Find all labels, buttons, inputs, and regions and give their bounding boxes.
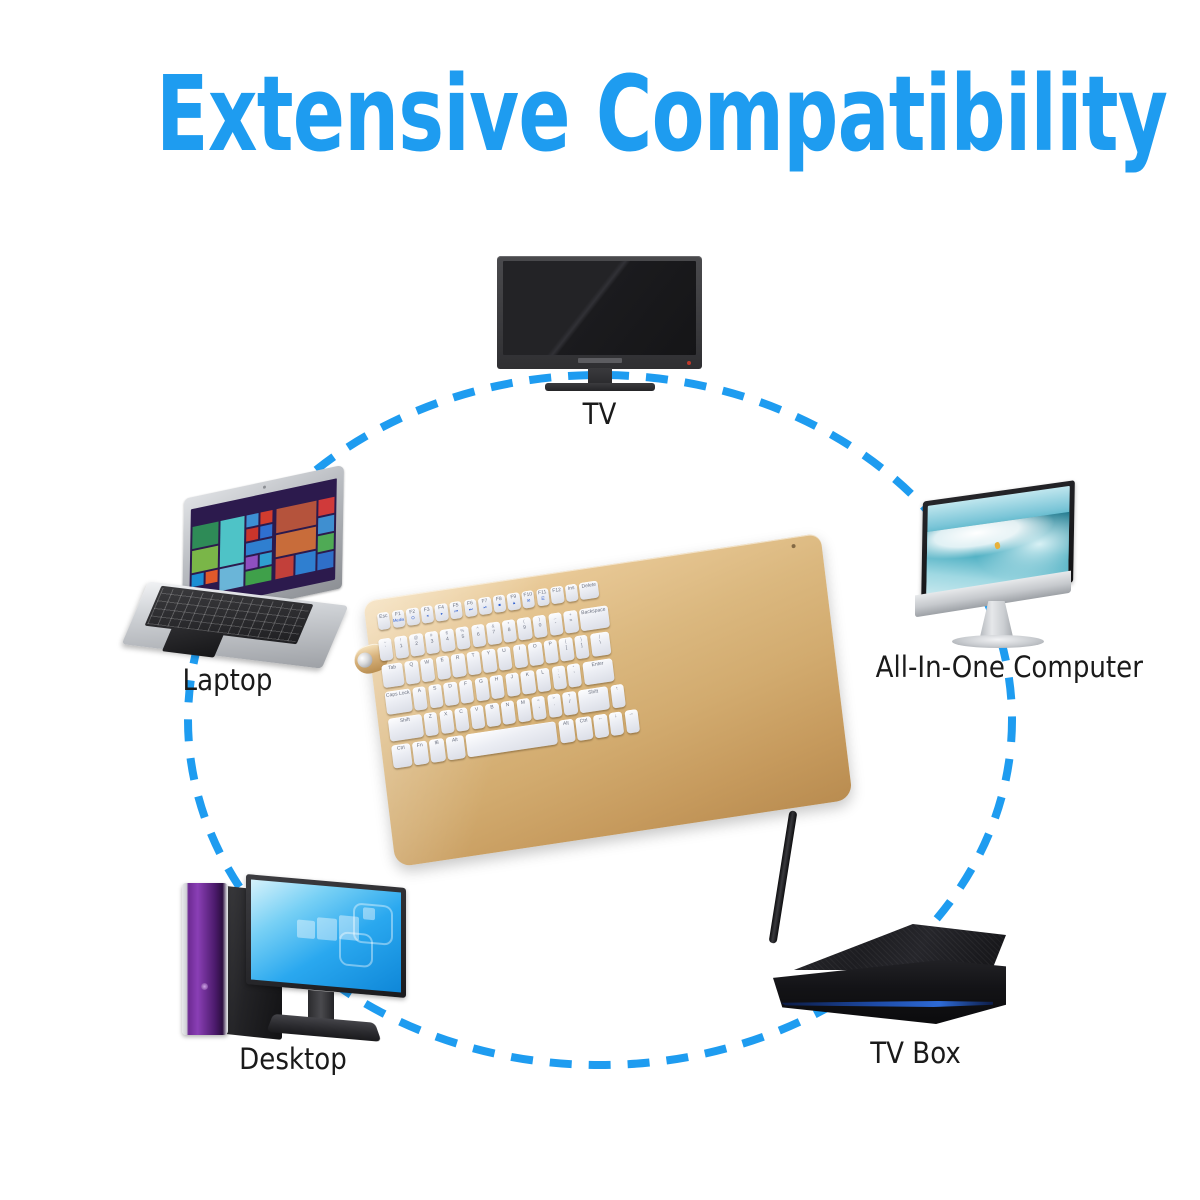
keyboard-key-0[interactable]: )0: [532, 615, 548, 639]
keyboard-key-[interactable]: _-: [548, 612, 564, 636]
device-label-all-in-one-computer: All-In-One Computer: [876, 651, 1121, 683]
keyboard-key-x[interactable]: X: [439, 709, 455, 734]
keyboard-key-j[interactable]: J: [505, 672, 521, 697]
keyboard-key-[interactable]: ↓: [609, 711, 625, 736]
keyboard-key-e[interactable]: E: [435, 655, 451, 680]
keyboard-key-alt[interactable]: Alt: [558, 719, 576, 744]
keyboard-key-i[interactable]: I: [512, 644, 528, 669]
tv-bezel-icon: [497, 256, 702, 369]
keyboard-key-4[interactable]: $4: [440, 628, 456, 652]
keyboard-key-y[interactable]: Y: [481, 648, 497, 673]
keyboard-key-f2[interactable]: F2⭘: [406, 607, 420, 626]
keyboard-key-alt[interactable]: Alt: [446, 735, 466, 760]
keyboard-key-s[interactable]: S: [428, 684, 444, 709]
keyboard-key-5[interactable]: %5: [455, 626, 471, 650]
keyboard-key-n[interactable]: N: [500, 700, 516, 725]
keyboard-key-f7[interactable]: F7⏯: [478, 596, 492, 615]
keyboard-key-[interactable]: {[: [559, 637, 575, 662]
keyboard-key-f10[interactable]: F10✉: [521, 590, 535, 609]
keyboard-key-enter[interactable]: Enter: [582, 658, 615, 685]
keyboard-key-f12[interactable]: F12: [550, 586, 564, 605]
all-in-one-stand-neck-icon: [980, 601, 1014, 639]
all-in-one-stand-base-icon: [952, 635, 1044, 648]
keyboard-key-delete[interactable]: Delete: [579, 580, 600, 600]
desktop-monitor-base-icon: [266, 1014, 381, 1042]
keyboard-key-f9[interactable]: F9▲: [507, 592, 521, 611]
keyboard-key-9[interactable]: (9: [517, 617, 533, 641]
desktop-monitor-screen: [251, 879, 401, 992]
keyboard-key-[interactable]: +=: [563, 610, 579, 634]
device-node-laptop[interactable]: Laptop: [95, 480, 360, 700]
keyboard-key-l[interactable]: L: [536, 668, 552, 693]
keyboard-key-[interactable]: "': [567, 663, 583, 688]
keyboard-key-caps-lock[interactable]: Caps Lock: [384, 688, 412, 715]
keyboard-key-f3[interactable]: F3◂: [420, 605, 434, 624]
keyboard-key-f4[interactable]: F4▸: [435, 603, 449, 622]
keyboard-key-d[interactable]: D: [443, 681, 459, 706]
keyboard-key-[interactable]: ⊞: [429, 738, 447, 763]
keyboard-key-q[interactable]: Q: [404, 660, 420, 685]
keyboard-key-g[interactable]: G: [474, 677, 490, 702]
keyboard-key-shift[interactable]: Shift: [578, 686, 611, 713]
device-node-desktop[interactable]: Desktop: [160, 875, 410, 1070]
device-node-tv[interactable]: TV: [497, 256, 702, 436]
tv-logo-bar-icon: [578, 358, 622, 363]
keyboard-key-o[interactable]: O: [528, 641, 544, 666]
device-label-desktop: Desktop: [181, 1043, 406, 1075]
desktop-power-button-icon: [201, 983, 208, 990]
keyboard-key-f6[interactable]: F6⏭: [463, 599, 477, 618]
keyboard-key-w[interactable]: W: [420, 658, 436, 683]
keyboard-key-u[interactable]: U: [497, 646, 513, 671]
keyboard-key-fn[interactable]: Fn: [412, 740, 430, 765]
device-label-laptop: Laptop: [108, 664, 347, 696]
device-label-tv-box: TV Box: [796, 1037, 1035, 1069]
tv-power-led-icon: [687, 361, 691, 365]
keyboard-key-[interactable]: ~`: [378, 638, 394, 662]
keyboard-key-7[interactable]: &7: [486, 621, 502, 645]
keyboard-key-[interactable]: >.: [547, 693, 563, 718]
keyboard-key-tab[interactable]: Tab: [381, 662, 405, 688]
compatibility-infographic: Extensive Compatibility TV: [0, 0, 1200, 1200]
keyboard-key-k[interactable]: K: [520, 670, 536, 695]
device-label-tv: TV: [507, 398, 692, 430]
keyboard-key-1[interactable]: !1: [393, 635, 409, 659]
keyboard-key-[interactable]: }]: [574, 635, 590, 660]
keyboard-key-z[interactable]: Z: [423, 712, 439, 737]
keyboard-key-[interactable]: ?/: [562, 691, 578, 716]
laptop-touchpad-icon: [162, 627, 224, 657]
desktop-tower-icon: [182, 883, 228, 1035]
keyboard-key-p[interactable]: P: [543, 639, 559, 664]
keyboard-key-[interactable]: |\: [589, 631, 611, 657]
keyboard-key-a[interactable]: A: [412, 686, 428, 711]
keyboard-key-esc[interactable]: Esc: [377, 612, 391, 631]
keyboard-key-f[interactable]: F: [459, 679, 475, 704]
keyboard-key-backspace[interactable]: Backspace: [579, 605, 610, 631]
keyboard-key-[interactable]: ←: [593, 714, 609, 739]
keyboard-key-v[interactable]: V: [470, 705, 486, 730]
keyboard-key-[interactable]: ↑: [610, 684, 626, 709]
laptop-webcam-icon: [263, 485, 266, 489]
keyboard-key-shift[interactable]: Shift: [388, 714, 424, 742]
keyboard-key-ctrl[interactable]: Ctrl: [391, 743, 412, 769]
keyboard-key-m[interactable]: M: [516, 698, 532, 723]
keyboard-key-r[interactable]: R: [451, 653, 467, 678]
page-title: Extensive Compatibility: [156, 62, 1044, 166]
keyboard-key-ins[interactable]: Ins: [565, 584, 579, 603]
device-node-all-in-one-computer[interactable]: All-In-One Computer: [890, 483, 1105, 693]
tv-stand-base-icon: [545, 383, 655, 391]
keyboard-key-c[interactable]: C: [454, 707, 470, 732]
wireless-keyboard-product[interactable]: EscF1MediaF2⭘F3◂F4▸F5⏮F6⏭F7⏯F8■F9▲F10✉F1…: [360, 558, 860, 878]
keyboard-key-t[interactable]: T: [466, 651, 482, 676]
keyboard-key-[interactable]: <,: [531, 696, 547, 721]
keyboard-key-ctrl[interactable]: Ctrl: [575, 716, 593, 741]
keyboard-key-b[interactable]: B: [485, 702, 501, 727]
keyboard-key-f11[interactable]: F11☰: [536, 588, 550, 607]
keyboard-key-8[interactable]: *8: [501, 619, 517, 643]
keyboard-key-f1[interactable]: F1Media: [391, 609, 405, 628]
keyboard-key-[interactable]: →: [624, 709, 640, 734]
keyboard-key-6[interactable]: ^6: [471, 624, 487, 648]
keyboard-key-f8[interactable]: F8■: [492, 594, 506, 613]
keyboard-key-3[interactable]: #3: [424, 631, 440, 655]
keyboard-key-2[interactable]: @2: [409, 633, 425, 657]
tv-screen: [503, 261, 696, 355]
keyboard-key-h[interactable]: H: [489, 675, 505, 700]
keyboard-key-f5[interactable]: F5⏮: [449, 601, 463, 620]
keyboard-key-[interactable]: :;: [551, 665, 567, 690]
